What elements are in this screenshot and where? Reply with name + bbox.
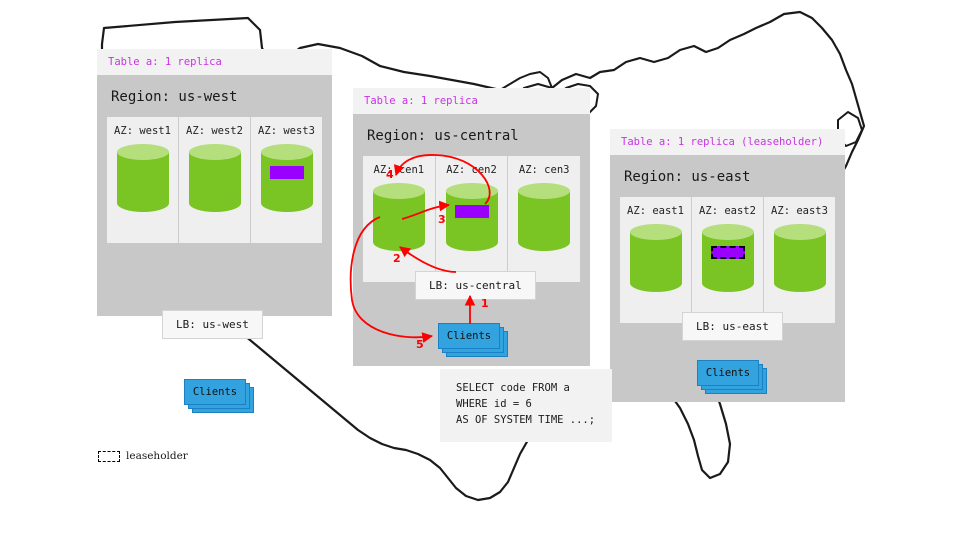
az-label-east2: AZ: east2 [692, 205, 763, 217]
az-cell-cen2[interactable]: AZ: cen2 [436, 156, 509, 282]
region-replica-header-us-central: Table a: 1 replica [353, 88, 590, 114]
az-label-west1: AZ: west1 [107, 125, 178, 137]
clients-label-us-east[interactable]: Clients [697, 360, 759, 386]
az-label-west2: AZ: west2 [179, 125, 250, 137]
clients-label-us-west[interactable]: Clients [184, 379, 246, 405]
region-replica-header-us-west: Table a: 1 replica [97, 49, 332, 75]
az-label-cen1: AZ: cen1 [363, 164, 435, 176]
replica-badge-cen2 [455, 205, 489, 218]
region-body-us-west: Region: us-west AZ: west1 AZ: west2 [97, 75, 332, 316]
clients-stack-us-west[interactable]: Clients [184, 379, 258, 417]
az-label-west3: AZ: west3 [251, 125, 322, 137]
cylinder-body [774, 232, 826, 292]
cylinder-top [117, 144, 169, 160]
az-row-us-west: AZ: west1 AZ: west2 AZ: west3 [107, 117, 322, 243]
leaseholder-swatch-icon [98, 451, 120, 462]
clients-label-us-central[interactable]: Clients [438, 323, 500, 349]
az-row-us-east: AZ: east1 AZ: east2 AZ: east3 [620, 197, 835, 323]
cylinder-body [117, 152, 169, 212]
step-label-2: 2 [393, 252, 401, 265]
node-cylinder-west2[interactable] [189, 144, 241, 212]
cylinder-top [518, 183, 570, 199]
legend-label: leaseholder [126, 450, 188, 462]
node-cylinder-east3[interactable] [774, 224, 826, 292]
load-balancer-us-west[interactable]: LB: us-west [162, 310, 263, 339]
az-cell-cen3[interactable]: AZ: cen3 [508, 156, 580, 282]
replica-badge-leaseholder-east2 [711, 246, 745, 259]
node-cylinder-east1[interactable] [630, 224, 682, 292]
az-label-cen3: AZ: cen3 [508, 164, 580, 176]
az-cell-west1[interactable]: AZ: west1 [107, 117, 179, 243]
az-cell-east2[interactable]: AZ: east2 [692, 197, 764, 323]
cylinder-body [189, 152, 241, 212]
replica-badge-west3 [270, 166, 304, 179]
clients-stack-us-central[interactable]: Clients [438, 323, 512, 361]
region-panel-us-east: Table a: 1 replica (leaseholder) Region:… [610, 129, 845, 402]
cylinder-body [261, 152, 313, 212]
cylinder-body [373, 191, 425, 251]
region-title-us-west: Region: us-west [97, 75, 332, 117]
cylinder-body [446, 191, 498, 251]
az-label-east1: AZ: east1 [620, 205, 691, 217]
cylinder-top [446, 183, 498, 199]
cylinder-top [261, 144, 313, 160]
az-label-cen2: AZ: cen2 [436, 164, 508, 176]
step-label-4: 4 [386, 168, 394, 181]
diagram-canvas: Table a: 1 replica Region: us-west AZ: w… [0, 0, 960, 540]
cylinder-top [189, 144, 241, 160]
node-cylinder-west1[interactable] [117, 144, 169, 212]
region-panel-us-west: Table a: 1 replica Region: us-west AZ: w… [97, 49, 332, 316]
cylinder-top [630, 224, 682, 240]
cylinder-body [518, 191, 570, 251]
sql-query-box: SELECT code FROM a WHERE id = 6 AS OF SY… [440, 369, 612, 442]
step-label-1: 1 [481, 297, 489, 310]
node-cylinder-cen3[interactable] [518, 183, 570, 251]
clients-stack-us-east[interactable]: Clients [697, 360, 771, 398]
load-balancer-us-central[interactable]: LB: us-central [415, 271, 536, 300]
cylinder-top [702, 224, 754, 240]
node-cylinder-east2[interactable] [702, 224, 754, 292]
load-balancer-us-east[interactable]: LB: us-east [682, 312, 783, 341]
step-label-5: 5 [416, 338, 424, 351]
az-cell-east3[interactable]: AZ: east3 [764, 197, 835, 323]
region-panel-us-central: Table a: 1 replica Region: us-central AZ… [353, 88, 590, 366]
cylinder-top [373, 183, 425, 199]
node-cylinder-cen1[interactable] [373, 183, 425, 251]
region-replica-header-us-east: Table a: 1 replica (leaseholder) [610, 129, 845, 155]
az-cell-west2[interactable]: AZ: west2 [179, 117, 251, 243]
az-cell-west3[interactable]: AZ: west3 [251, 117, 322, 243]
region-title-us-east: Region: us-east [610, 155, 845, 197]
legend-leaseholder: leaseholder [98, 450, 188, 462]
cylinder-top [774, 224, 826, 240]
step-label-3: 3 [438, 213, 446, 226]
az-cell-east1[interactable]: AZ: east1 [620, 197, 692, 323]
region-title-us-central: Region: us-central [353, 114, 590, 156]
cylinder-body [702, 232, 754, 292]
node-cylinder-cen2[interactable] [446, 183, 498, 251]
az-label-east3: AZ: east3 [764, 205, 835, 217]
cylinder-body [630, 232, 682, 292]
node-cylinder-west3[interactable] [261, 144, 313, 212]
